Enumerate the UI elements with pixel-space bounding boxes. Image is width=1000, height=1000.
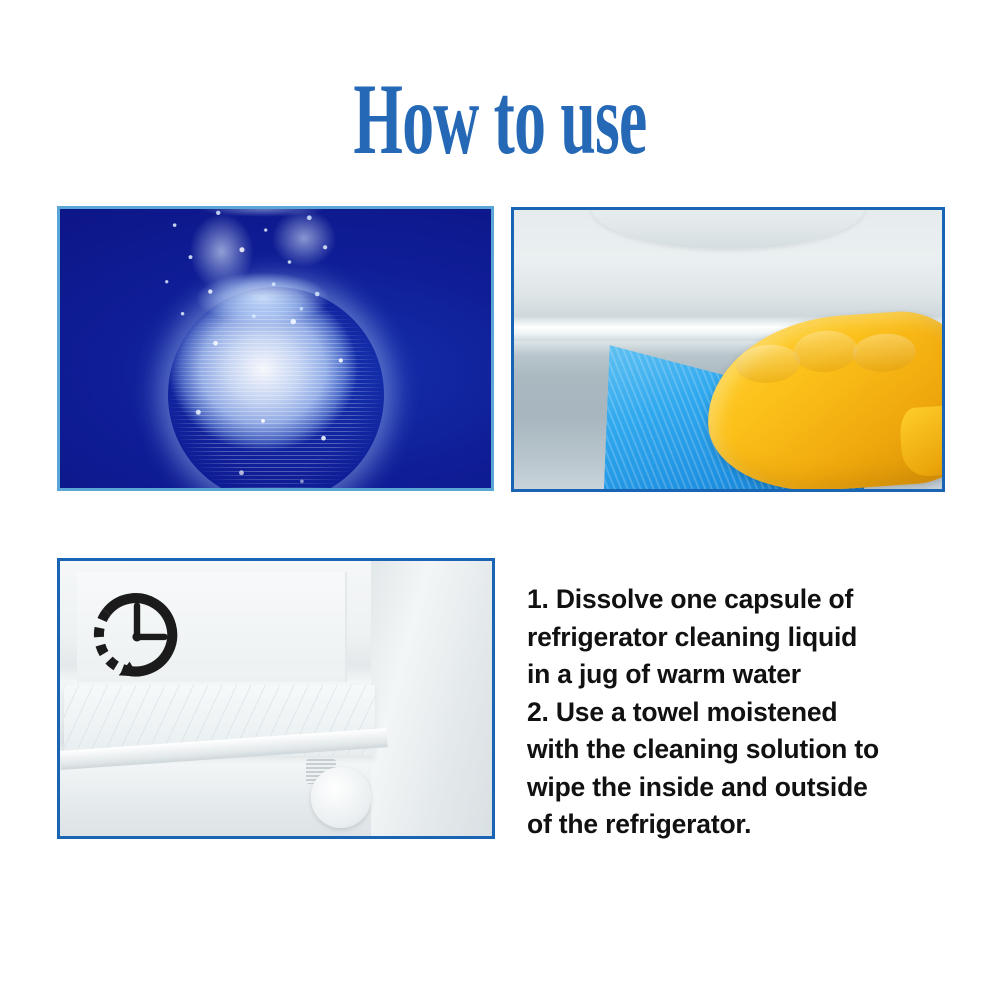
instruction-line: in a jug of warm water xyxy=(527,656,947,694)
glove-knuckle xyxy=(792,329,858,375)
capsule-fizz-texture xyxy=(168,287,384,491)
instructions-block: 1. Dissolve one capsule of refrigerator … xyxy=(527,581,947,844)
fridge-light-bulb xyxy=(311,767,371,828)
image-panel-clean-refrigerator xyxy=(57,558,495,839)
page-title: How to use xyxy=(130,62,870,175)
instruction-line: 2. Use a towel moistened xyxy=(527,694,947,732)
instruction-line: 1. Dissolve one capsule of xyxy=(527,581,947,619)
glove-knuckle xyxy=(851,331,917,373)
instruction-line: refrigerator cleaning liquid xyxy=(527,619,947,657)
glove-cuff xyxy=(898,403,945,478)
instruction-line: with the cleaning solution to xyxy=(527,731,947,769)
instruction-line: wipe the inside and outside xyxy=(527,769,947,807)
image-panel-tablet-dissolving xyxy=(57,206,494,491)
clock-icon xyxy=(82,581,192,691)
instruction-line: of the refrigerator. xyxy=(527,806,947,844)
image-panel-wiping-with-cloth xyxy=(511,207,945,492)
fridge-door-column xyxy=(371,561,492,836)
